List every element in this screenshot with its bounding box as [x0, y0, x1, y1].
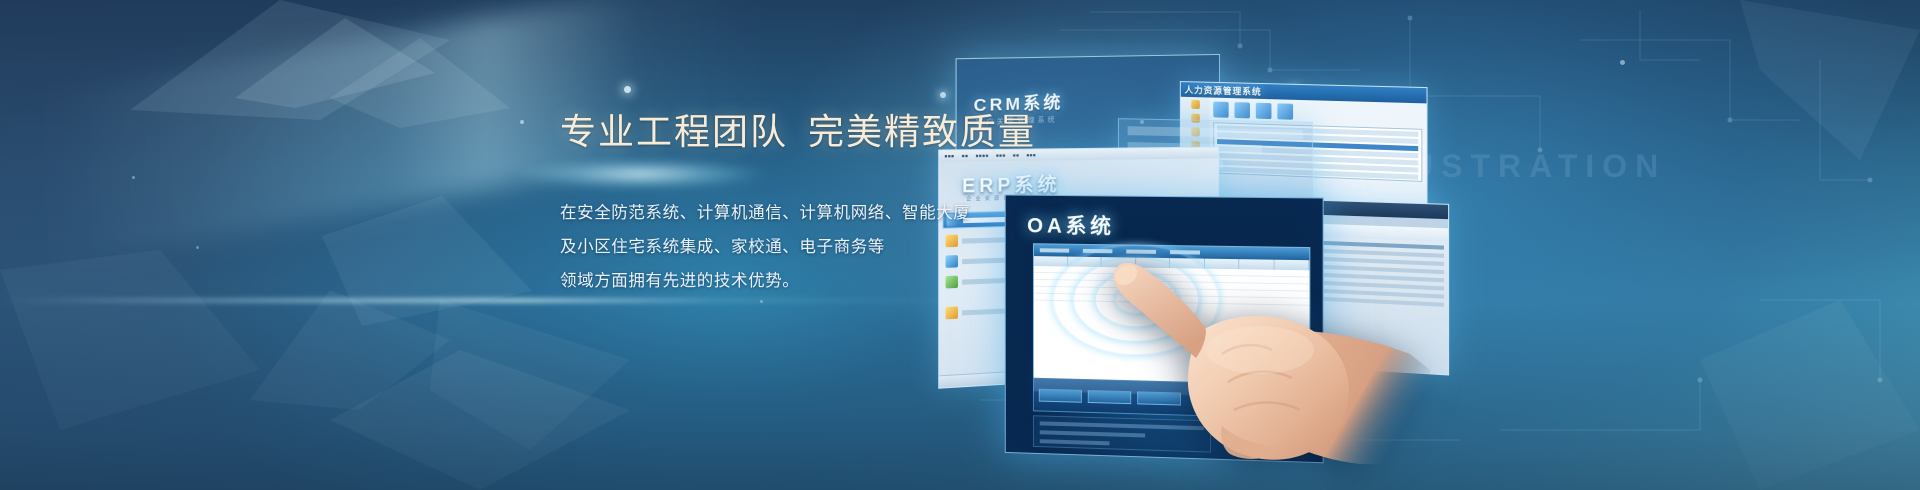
hr-window-title: 人力资源管理系统	[1185, 83, 1262, 98]
software-screens-cluster: VECTOR ILLUSTRATION SAMPLE EPS CRM系统 客户关…	[940, 0, 1920, 490]
hr-toolbar-icon[interactable]	[1277, 103, 1293, 119]
erp-nav-icon	[946, 306, 958, 319]
paragraph-line-2: 及小区住宅系统集成、家校通、电子商务等	[560, 230, 1080, 264]
oa-menu-item[interactable]	[1083, 249, 1113, 253]
oa-menu-item[interactable]	[1126, 249, 1156, 253]
headline-part-1: 专业工程团队	[560, 111, 788, 152]
paragraph-line-3: 领域方面拥有先进的技术优势。	[560, 264, 1080, 298]
oa-button[interactable]	[1039, 388, 1082, 402]
banner-paragraph: 在安全防范系统、计算机通信、计算机网络、智能大厦 及小区住宅系统集成、家校通、电…	[560, 196, 1080, 298]
pointing-hand	[1110, 258, 1430, 490]
hr-toolbar-icon[interactable]	[1234, 102, 1250, 118]
paragraph-line-1: 在安全防范系统、计算机通信、计算机网络、智能大厦	[560, 196, 1080, 230]
oa-menu-item[interactable]	[1170, 250, 1200, 254]
headline-part-2: 完美精致质量	[808, 111, 1036, 152]
oa-lower-panel-line	[1040, 439, 1110, 445]
hr-sidebar-icon[interactable]	[1191, 100, 1200, 109]
banner-copy: 专业工程团队完美精致质量 在安全防范系统、计算机通信、计算机网络、智能大厦 及小…	[560, 112, 1080, 298]
erp-backdrop-line	[1128, 126, 1303, 139]
hr-toolbar-icon[interactable]	[1213, 102, 1228, 118]
banner-headline: 专业工程团队完美精致质量	[560, 112, 1080, 152]
hero-banner: 专业工程团队完美精致质量 在安全防范系统、计算机通信、计算机网络、智能大厦 及小…	[0, 0, 1920, 490]
hr-toolbar-icon[interactable]	[1256, 103, 1272, 119]
